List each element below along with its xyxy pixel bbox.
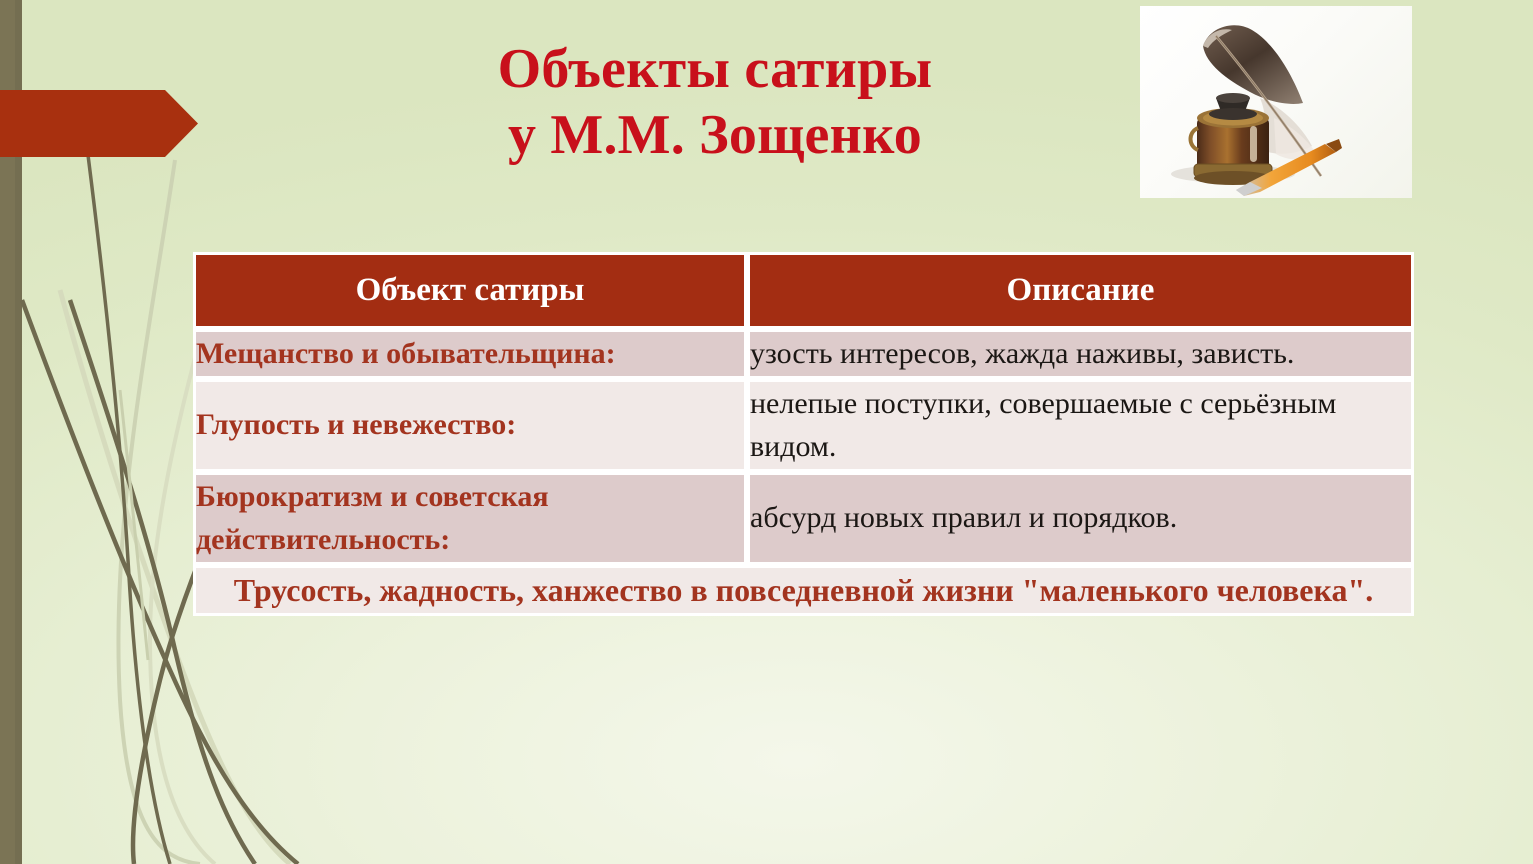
table-header-row: Объект сатиры Описание	[193, 252, 1414, 329]
title-line-2: у М.М. Зощенко	[300, 102, 1130, 168]
table-summary-row: Трусость, жадность, ханжество в повседне…	[193, 565, 1414, 616]
slide-canvas: Объекты сатиры у М.М. Зощенко	[0, 0, 1533, 864]
table-row: Бюрократизм и советская действительность…	[193, 472, 1414, 565]
cell-summary: Трусость, жадность, ханжество в повседне…	[193, 565, 1414, 616]
column-header-description: Описание	[747, 252, 1414, 329]
cell-description: абсурд новых правил и порядков.	[747, 472, 1414, 565]
title-line-1: Объекты сатиры	[300, 36, 1130, 102]
cell-category: Глупость и невежество:	[193, 379, 747, 472]
right-arrow-banner	[0, 90, 198, 157]
satire-objects-table: Объект сатиры Описание Мещанство и обыва…	[193, 252, 1414, 616]
column-header-object: Объект сатиры	[193, 252, 747, 329]
page-title: Объекты сатиры у М.М. Зощенко	[300, 36, 1130, 168]
cell-description: узость интересов, жажда наживы, зависть.	[747, 329, 1414, 379]
cell-category: Мещанство и обывательщина:	[193, 329, 747, 379]
quill-pen-and-inkwell-illustration	[1140, 6, 1412, 198]
cell-category: Бюрократизм и советская действительность…	[193, 472, 747, 565]
table-row: Мещанство и обывательщина: узость интере…	[193, 329, 1414, 379]
table-row: Глупость и невежество: нелепые поступки,…	[193, 379, 1414, 472]
cell-description: нелепые поступки, совершаемые с серьёзны…	[747, 379, 1414, 472]
